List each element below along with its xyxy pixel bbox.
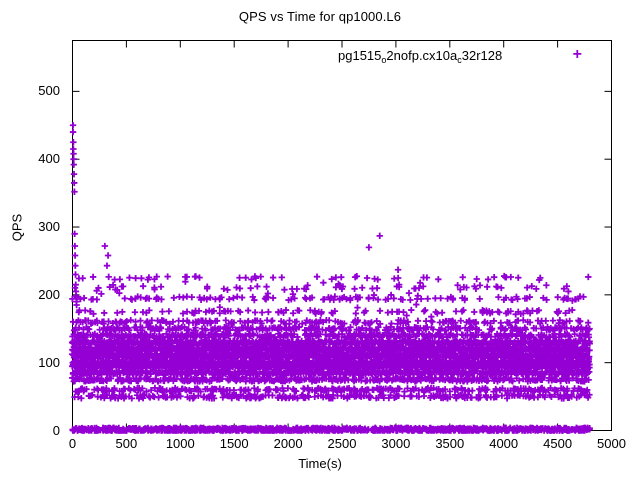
plot-area-svg [0,0,640,480]
data-points [69,122,593,434]
chart-container: QPS vs Time for qp1000.L6 QPS Time(s) pg… [0,0,640,480]
